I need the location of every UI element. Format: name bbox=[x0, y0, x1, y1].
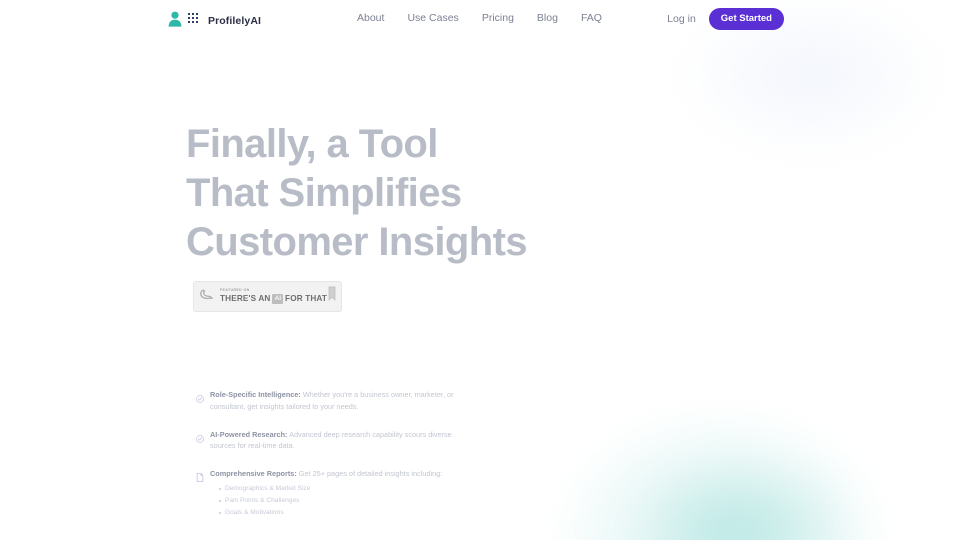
header-actions: Log in Get Started bbox=[667, 8, 784, 30]
grid-dots-icon bbox=[188, 12, 200, 30]
document-icon bbox=[196, 469, 204, 487]
badge-main-pre: THERE'S AN bbox=[220, 295, 270, 303]
report-contents-list: Demographics & Market Size Pain Points &… bbox=[210, 483, 442, 520]
check-circle-icon bbox=[196, 390, 204, 408]
feature-title: AI-Powered Research: bbox=[210, 430, 287, 439]
badge-ai-chip: AI bbox=[272, 294, 283, 304]
nav-item-pricing[interactable]: Pricing bbox=[482, 13, 514, 24]
nav-item-about[interactable]: About bbox=[357, 13, 384, 24]
list-item: Comprehensive Reports: Get 25+ pages of … bbox=[196, 468, 478, 519]
feature-text: Comprehensive Reports: Get 25+ pages of … bbox=[210, 468, 442, 519]
badge-main-post: FOR THAT bbox=[285, 295, 327, 303]
feature-text: AI-Powered Research: Advanced deep resea… bbox=[210, 429, 478, 453]
feature-list: Role-Specific Intelligence: Whether you'… bbox=[196, 389, 478, 536]
headline-line-1: Finally, a Tool bbox=[186, 120, 606, 169]
background-glow-mint-inner bbox=[600, 430, 900, 540]
taaft-swan-icon bbox=[199, 286, 216, 308]
nav-item-faq[interactable]: FAQ bbox=[581, 13, 602, 24]
feature-description: Get 25+ pages of detailed insights inclu… bbox=[297, 469, 442, 478]
check-circle-icon bbox=[196, 430, 204, 448]
bookmark-ribbon-icon bbox=[328, 286, 336, 307]
brand-name: ProfilelyAI bbox=[208, 16, 261, 27]
background-glow-mint bbox=[505, 370, 935, 540]
list-item: Pain Points & Challenges bbox=[219, 495, 442, 507]
feature-text: Role-Specific Intelligence: Whether you'… bbox=[210, 389, 478, 413]
site-header: ProfilelyAI About Use Cases Pricing Blog… bbox=[0, 0, 960, 41]
headline-line-3: Customer Insights bbox=[186, 218, 606, 267]
primary-nav: About Use Cases Pricing Blog FAQ bbox=[357, 13, 602, 24]
badge-text: FEATURED ON THERE'S AN AI FOR THAT bbox=[220, 289, 325, 304]
feature-title: Role-Specific Intelligence: bbox=[210, 390, 301, 399]
list-item: AI-Powered Research: Advanced deep resea… bbox=[196, 429, 478, 453]
featured-on-badge[interactable]: FEATURED ON THERE'S AN AI FOR THAT bbox=[193, 281, 342, 312]
nav-item-blog[interactable]: Blog bbox=[537, 13, 558, 24]
login-link[interactable]: Log in bbox=[667, 14, 696, 25]
badge-featured-label: FEATURED ON bbox=[220, 289, 325, 293]
brand-logo[interactable]: ProfilelyAI bbox=[168, 10, 261, 32]
feature-title: Comprehensive Reports: bbox=[210, 469, 297, 478]
nav-item-use-cases[interactable]: Use Cases bbox=[407, 13, 458, 24]
page-root: ProfilelyAI About Use Cases Pricing Blog… bbox=[0, 0, 960, 540]
headline-line-2: That Simplifies bbox=[186, 169, 606, 218]
person-icon bbox=[168, 11, 182, 32]
page-title: Finally, a Tool That Simplifies Customer… bbox=[186, 120, 606, 266]
list-item: Demographics & Market Size bbox=[219, 483, 442, 495]
badge-main-line: THERE'S AN AI FOR THAT bbox=[220, 294, 325, 304]
list-item: Goals & Motivations bbox=[219, 507, 442, 519]
get-started-button[interactable]: Get Started bbox=[709, 8, 784, 30]
hero-section: Finally, a Tool That Simplifies Customer… bbox=[186, 120, 606, 266]
list-item: Role-Specific Intelligence: Whether you'… bbox=[196, 389, 478, 413]
